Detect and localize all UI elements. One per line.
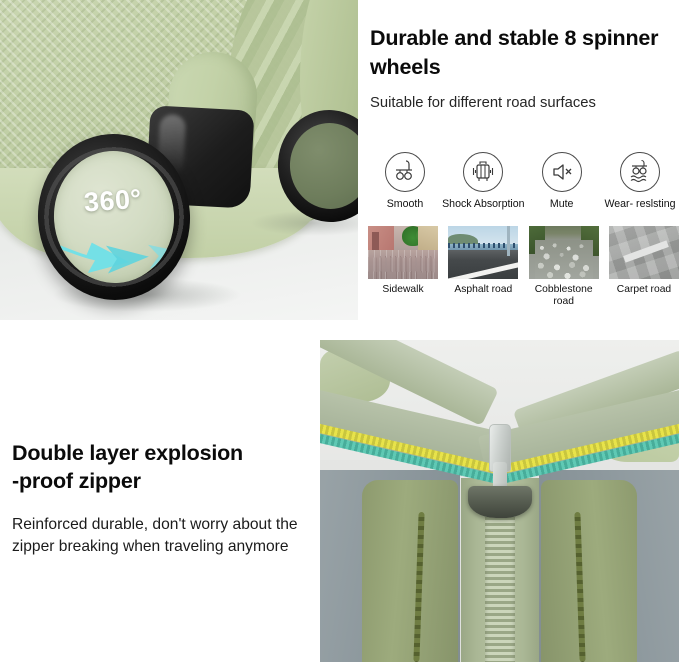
zipper-slider-body [468, 486, 532, 518]
zipper-closeup-photo [320, 340, 679, 662]
road-item-sidewalk: Sidewalk [368, 226, 438, 307]
zipper-headline-line2: -proof zipper [12, 469, 141, 493]
road-item-cobblestone: Cobblestone road [529, 226, 599, 307]
feature-label: Wear- reslsting [604, 198, 675, 211]
feature-label: Shock Absorption [442, 198, 524, 211]
feature-smooth: Smooth [366, 152, 444, 211]
rotation-arrow-icon [50, 217, 179, 287]
zipper-body-text: Reinforced durable, don't worry about th… [12, 514, 322, 558]
feature-shock-absorption: Shock Absorption [444, 152, 522, 211]
zipper-headline: Double layer explosion -proof zipper [12, 440, 322, 496]
carpet-road-thumbnail [609, 226, 679, 279]
road-caption: Cobblestone road [529, 284, 599, 307]
wheels-headline: Durable and stable 8 spinner wheels [370, 24, 679, 81]
feature-label: Smooth [387, 198, 424, 211]
secondary-wheel-hub [286, 119, 358, 213]
caster-wheel-icon [385, 152, 425, 192]
wheels-text-block: Durable and stable 8 spinner wheels Suit… [370, 24, 679, 113]
wheel-on-waves-icon [620, 152, 660, 192]
road-caption: Sidewalk [368, 284, 438, 296]
cobblestone-thumbnail [529, 226, 599, 279]
road-item-carpet: Carpet road [609, 226, 679, 307]
zipper-text-block: Double layer explosion -proof zipper Rei… [12, 440, 322, 558]
360-degree-badge: 360° [83, 184, 143, 219]
speaker-mute-icon [542, 152, 582, 192]
road-caption: Carpet road [609, 284, 679, 296]
road-surface-thumbnails: Sidewalk Asphalt road Cobblestone road [368, 226, 679, 307]
road-item-asphalt: Asphalt road [448, 226, 518, 307]
wheels-subhead: Suitable for different road surfaces [370, 94, 679, 113]
asphalt-thumbnail [448, 226, 518, 279]
feature-mute: Mute [523, 152, 601, 211]
zipper-headline-line1: Double layer explosion [12, 441, 243, 465]
suitcase-shock-icon [463, 152, 503, 192]
green-panel-right [541, 480, 637, 662]
road-caption: Asphalt road [448, 284, 518, 296]
feature-label: Mute [550, 198, 574, 211]
green-panel-left [362, 480, 458, 662]
sidewalk-thumbnail [368, 226, 438, 279]
spinner-wheel-photo: 360° [0, 0, 358, 320]
feature-wear-resisting: Wear- reslsting [601, 152, 679, 211]
product-infographic: 360° Durable and stable 8 spinner wheels… [0, 0, 679, 662]
feature-icon-row: Smooth Shock Absorption M [366, 152, 679, 211]
